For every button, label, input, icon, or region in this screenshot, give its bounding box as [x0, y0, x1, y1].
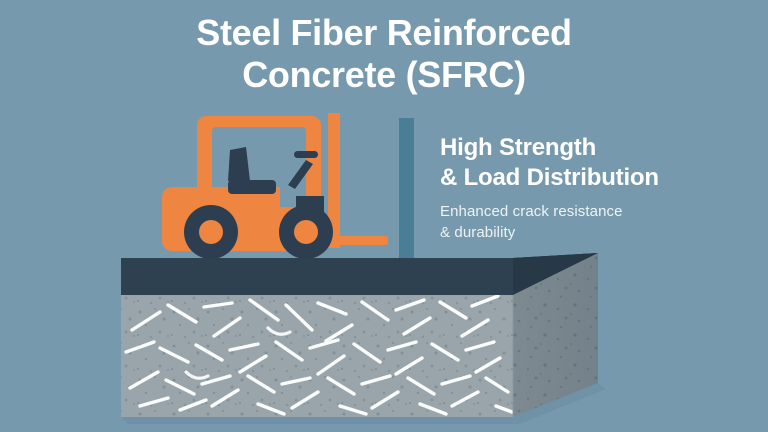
callout-heading-line-2: & Load Distribution — [440, 163, 740, 193]
page-title: Steel Fiber Reinforced Concrete (SFRC) — [0, 12, 768, 96]
callout-heading-line-1: High Strength — [440, 133, 740, 163]
infographic-canvas: Steel Fiber Reinforced Concrete (SFRC) H… — [0, 0, 768, 432]
forklift-icon — [162, 113, 388, 259]
concrete-slab — [121, 253, 598, 417]
callout-text-group: High Strength & Load Distribution Enhanc… — [440, 133, 740, 244]
callout-sub-line-1: Enhanced crack resistance — [440, 202, 740, 223]
callout-sub-line-2: & durability — [440, 223, 740, 244]
title-line-2: Concrete (SFRC) — [0, 54, 768, 96]
title-line-1: Steel Fiber Reinforced — [0, 12, 768, 54]
callout-subtext: Enhanced crack resistance & durability — [440, 202, 740, 243]
